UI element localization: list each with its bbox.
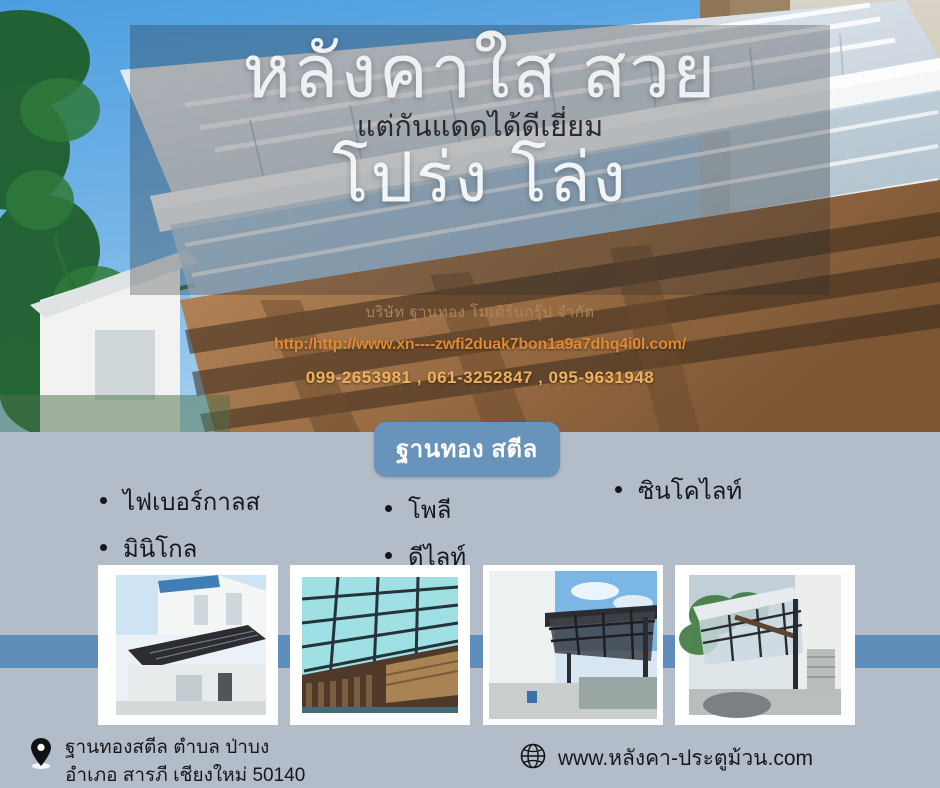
bullet-dot-icon [385, 552, 392, 559]
feature-column-3: ซินโคไลท์ [615, 471, 742, 518]
map-pin-icon [30, 737, 52, 774]
gallery-thumbnail[interactable] [483, 565, 663, 725]
brand-badge: ฐานทอง สตีล [374, 422, 560, 477]
phone-numbers: 099-2653981 , 061-3252847 , 095-9631948 [130, 368, 830, 388]
gallery-thumbnail[interactable] [675, 565, 855, 725]
feature-label: ซินโคไลท์ [638, 471, 742, 510]
side-alley-polycarbonate-roof-photo [675, 565, 855, 725]
headline-primary: หลังคาใส สวย [130, 25, 830, 109]
gallery-thumbnail[interactable] [290, 565, 470, 725]
feature-item: โพลี [385, 490, 466, 529]
feature-list: ไฟเบอร์กาลส มินิโกล โพลี ดีไลท์ [0, 474, 940, 564]
glass-roof-interior-courtyard-photo [290, 565, 470, 725]
hero-headline-group: หลังคาใส สวย แต่กันแดดได้ดีเยี่ยม โปร่ง … [130, 25, 830, 295]
feature-item: มินิโกล [100, 529, 260, 568]
bullet-dot-icon [615, 486, 622, 493]
website-block[interactable]: www.หลังคา-ประตูม้วน.com [520, 742, 813, 775]
globe-icon [520, 743, 546, 774]
flyer-root: หลังคาใส สวย แต่กันแดดได้ดีเยี่ยม โปร่ง … [0, 0, 940, 788]
address-block: ฐานทองสตีล ตำบล ป่าบง อำเภอ สารภี เชียงใ… [30, 734, 305, 788]
thumbnail-gallery [0, 565, 940, 730]
bullet-dot-icon [385, 505, 392, 512]
address-text: ฐานทองสตีล ตำบล ป่าบง อำเภอ สารภี เชียงใ… [65, 734, 305, 788]
carport-canopy-white-house-photo [98, 565, 278, 725]
feature-label: มินิโกล [123, 529, 197, 568]
feature-label: ไฟเบอร์กาลส [123, 482, 260, 521]
bullet-dot-icon [100, 497, 107, 504]
lower-panel: ฐานทอง สตีล ไฟเบอร์กาลส มินิโกล โพลี [0, 432, 940, 788]
hero-photo: หลังคาใส สวย แต่กันแดดได้ดีเยี่ยม โปร่ง … [0, 0, 940, 432]
gallery-thumbnail[interactable] [98, 565, 278, 725]
feature-label: โพลี [408, 490, 451, 529]
walkway-canopy-blue-sky-photo [483, 565, 663, 725]
feature-column-1: ไฟเบอร์กาลส มินิโกล [100, 482, 260, 576]
website-url-overlay[interactable]: http:/http://www.xn----zwfi2duak7bon1a9a… [130, 336, 830, 354]
bullet-dot-icon [100, 544, 107, 551]
company-name: บริษัท ฐานทอง โมเดิร์นกรุ๊ป จำกัด [130, 300, 830, 324]
feature-item: ไฟเบอร์กาลส [100, 482, 260, 521]
website-text[interactable]: www.หลังคา-ประตูม้วน.com [558, 742, 813, 775]
headline-secondary: โปร่ง โล่ง [130, 142, 830, 212]
address-line-2: อำเภอ สารภี เชียงใหม่ 50140 [65, 762, 305, 788]
hero-contact-block: บริษัท ฐานทอง โมเดิร์นกรุ๊ป จำกัด http:/… [130, 300, 830, 388]
feature-item: ซินโคไลท์ [615, 471, 742, 510]
address-line-1: ฐานทองสตีล ตำบล ป่าบง [65, 734, 305, 762]
headline-subtitle: แต่กันแดดได้ดีเยี่ยม [130, 109, 830, 142]
footer-bar: ฐานทองสตีล ตำบล ป่าบง อำเภอ สารภี เชียงใ… [0, 732, 940, 788]
